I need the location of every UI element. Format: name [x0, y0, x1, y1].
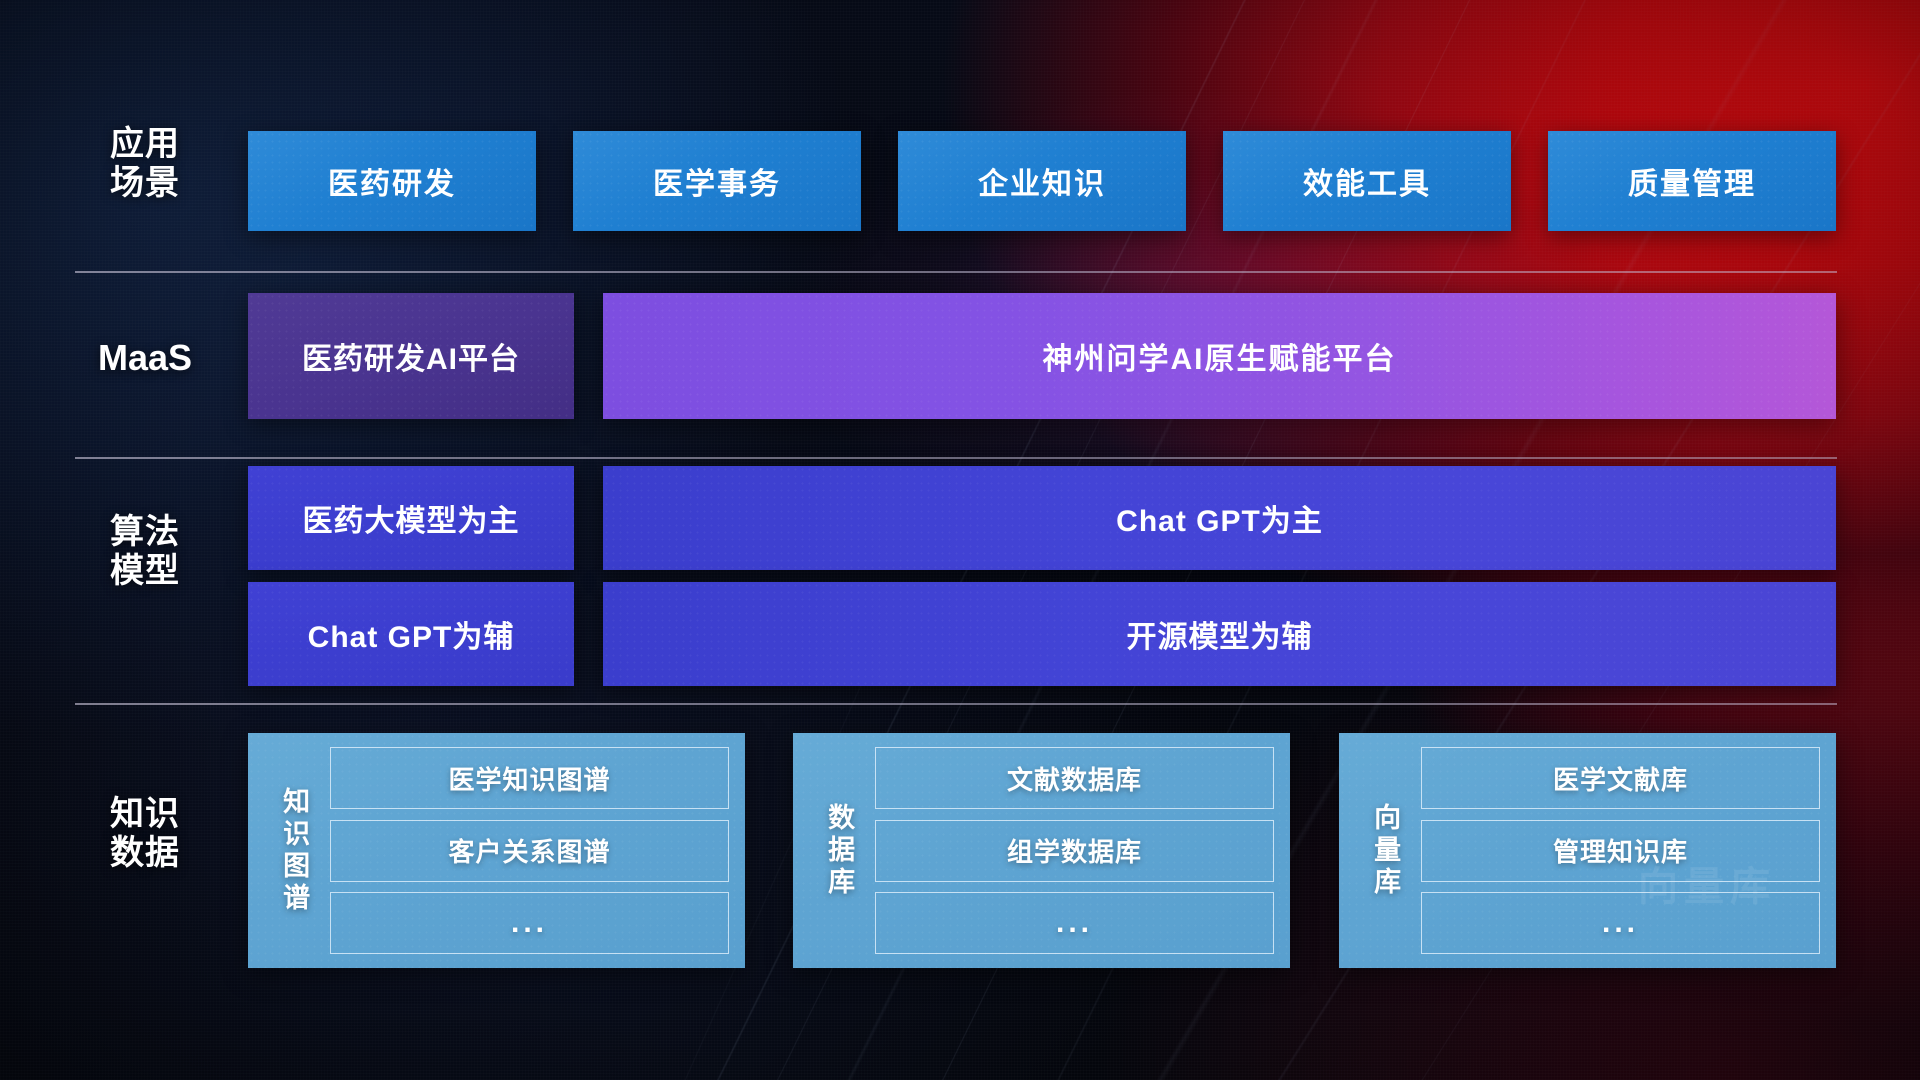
row-label-application: 应用 场景 [75, 125, 215, 204]
knowledge-panel-1-items: 医学知识图谱 客户关系图谱 ... [330, 747, 729, 954]
algo-left-box-2-label: Chat GPT为辅 [308, 612, 515, 656]
knowledge-panel-1-title: 知识图谱 [258, 747, 330, 954]
knowledge-item-2-3-label: ... [1056, 906, 1093, 940]
maas-wide-box-label: 神州问学AI原生赋能平台 [1043, 334, 1397, 378]
knowledge-panel-2-items: 文献数据库 组学数据库 ... [875, 747, 1274, 954]
knowledge-panel-3-items: 医学文献库 管理知识库 ... [1421, 747, 1820, 954]
divider-algorithm-knowledge [75, 703, 1837, 705]
app-box-5-label: 质量管理 [1628, 159, 1756, 203]
app-box-4[interactable]: 效能工具 [1223, 131, 1511, 231]
app-box-2[interactable]: 医学事务 [573, 131, 861, 231]
maas-left-box-label: 医药研发AI平台 [302, 334, 520, 378]
divider-maas-algorithm [75, 457, 1837, 459]
knowledge-item-2-2-label: 组学数据库 [1007, 832, 1142, 869]
app-box-2-label: 医学事务 [653, 159, 781, 203]
algo-left-box-2[interactable]: Chat GPT为辅 [248, 582, 574, 686]
algo-right-box-2[interactable]: 开源模型为辅 [603, 582, 1836, 686]
knowledge-item-2-1[interactable]: 文献数据库 [875, 747, 1274, 809]
app-box-1[interactable]: 医药研发 [248, 131, 536, 231]
row-label-algorithm: 算法 模型 [75, 513, 215, 592]
divider-application-maas [75, 271, 1837, 273]
maas-wide-box[interactable]: 神州问学AI原生赋能平台 [603, 293, 1836, 419]
architecture-diagram-slide: 应用 场景 医药研发 医学事务 企业知识 效能工具 质量管理 MaaS 医药研发… [0, 0, 1920, 1080]
row-label-knowledge: 知识 数据 [75, 795, 215, 874]
knowledge-item-2-1-label: 文献数据库 [1007, 760, 1142, 797]
app-box-3-label: 企业知识 [978, 159, 1106, 203]
algo-right-box-1[interactable]: Chat GPT为主 [603, 466, 1836, 570]
knowledge-panel-2: 数据库 文献数据库 组学数据库 ... [793, 733, 1290, 968]
knowledge-item-3-3[interactable]: ... [1421, 892, 1820, 954]
knowledge-item-2-2[interactable]: 组学数据库 [875, 820, 1274, 882]
app-box-1-label: 医药研发 [328, 159, 456, 203]
knowledge-item-1-2-label: 客户关系图谱 [448, 832, 610, 869]
knowledge-panel-3-title: 向量库 [1349, 747, 1421, 954]
app-box-4-label: 效能工具 [1303, 159, 1431, 203]
algo-left-box-1[interactable]: 医药大模型为主 [248, 466, 574, 570]
algo-left-box-1-label: 医药大模型为主 [303, 496, 520, 540]
knowledge-item-1-2[interactable]: 客户关系图谱 [330, 820, 729, 882]
row-label-maas: MaaS [75, 337, 215, 379]
algo-right-box-1-label: Chat GPT为主 [1116, 496, 1323, 540]
knowledge-item-3-2-label: 管理知识库 [1553, 832, 1688, 869]
knowledge-item-3-1-label: 医学文献库 [1553, 760, 1688, 797]
app-box-5[interactable]: 质量管理 [1548, 131, 1836, 231]
knowledge-item-1-1-label: 医学知识图谱 [448, 760, 610, 797]
knowledge-panel-1: 知识图谱 医学知识图谱 客户关系图谱 ... [248, 733, 745, 968]
knowledge-item-1-1[interactable]: 医学知识图谱 [330, 747, 729, 809]
knowledge-item-1-3-label: ... [511, 906, 548, 940]
maas-left-box[interactable]: 医药研发AI平台 [248, 293, 574, 419]
knowledge-item-1-3[interactable]: ... [330, 892, 729, 954]
knowledge-item-2-3[interactable]: ... [875, 892, 1274, 954]
knowledge-item-3-2[interactable]: 管理知识库 [1421, 820, 1820, 882]
knowledge-item-3-3-label: ... [1602, 906, 1639, 940]
app-box-3[interactable]: 企业知识 [898, 131, 1186, 231]
knowledge-panel-2-title: 数据库 [803, 747, 875, 954]
knowledge-item-3-1[interactable]: 医学文献库 [1421, 747, 1820, 809]
algo-right-box-2-label: 开源模型为辅 [1127, 612, 1313, 656]
knowledge-panel-3: 向量库 向量库 医学文献库 管理知识库 ... [1339, 733, 1836, 968]
